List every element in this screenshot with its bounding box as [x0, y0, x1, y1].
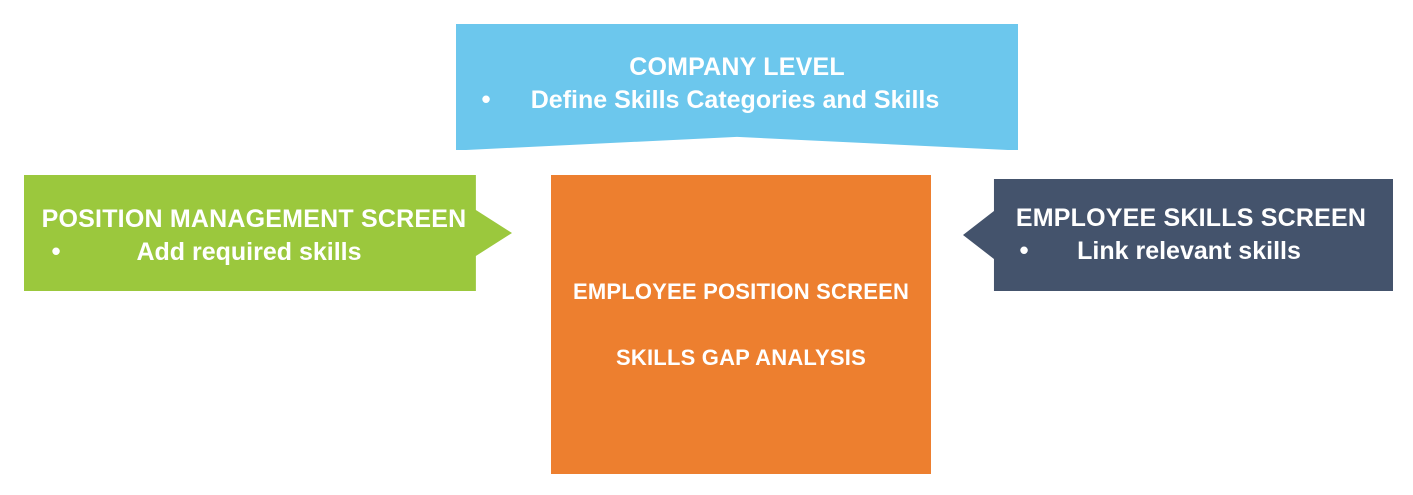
node-position-management-screen[interactable]: POSITION MANAGEMENT SCREEN • Add require…	[24, 175, 512, 291]
employee-skills-title: EMPLOYEE SKILLS SCREEN	[1001, 204, 1381, 232]
node-employee-position-screen[interactable]: EMPLOYEE POSITION SCREEN SKILLS GAP ANAL…	[551, 175, 931, 474]
employee-position-title: EMPLOYEE POSITION SCREEN	[551, 280, 931, 305]
bullet-point-icon: •	[462, 86, 510, 112]
company-level-bullet-text: Define Skills Categories and Skills	[510, 86, 1006, 114]
node-employee-skills-screen[interactable]: EMPLOYEE SKILLS SCREEN • Link relevant s…	[963, 179, 1393, 291]
position-management-title: POSITION MANAGEMENT SCREEN	[32, 205, 476, 233]
bullet-point-icon: •	[1001, 237, 1047, 263]
node-company-level[interactable]: COMPANY LEVEL • Define Skills Categories…	[456, 24, 1018, 150]
employee-skills-bullet-row: • Link relevant skills	[1001, 237, 1381, 265]
employee-skills-bullet-text: Link relevant skills	[1047, 237, 1381, 265]
skills-gap-analysis-label: SKILLS GAP ANALYSIS	[551, 346, 931, 371]
skills-gap-flow-diagram: COMPANY LEVEL • Define Skills Categories…	[0, 0, 1413, 495]
company-level-title: COMPANY LEVEL	[456, 53, 1018, 81]
position-management-bullet-text: Add required skills	[80, 238, 476, 266]
bullet-point-icon: •	[32, 238, 80, 264]
position-management-bullet-row: • Add required skills	[32, 238, 476, 266]
company-level-bullet-row: • Define Skills Categories and Skills	[456, 86, 1018, 114]
